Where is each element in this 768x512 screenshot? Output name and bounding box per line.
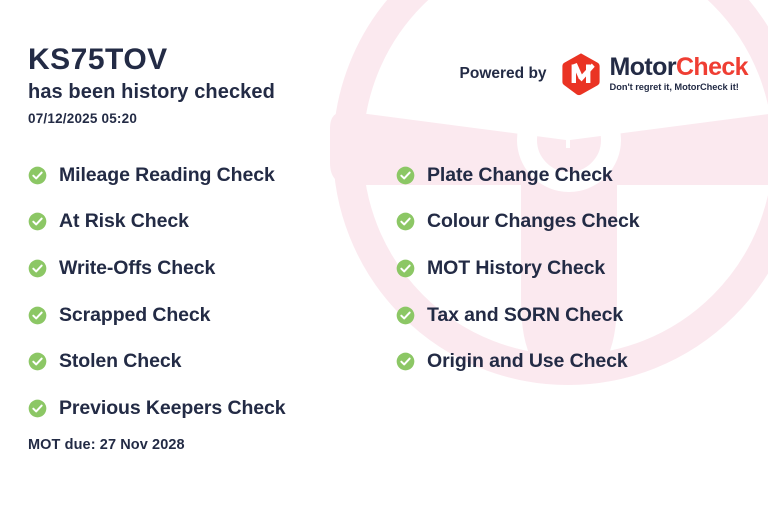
check-timestamp: 07/12/2025 05:20 [28, 111, 448, 126]
check-label: Colour Changes Check [427, 210, 640, 233]
brand-tagline: Don't regret it, MotorCheck it! [610, 83, 748, 92]
green-check-circle-icon [396, 306, 415, 325]
vehicle-history-banner: KS75TOV has been history checked 07/12/2… [0, 0, 768, 512]
header-subtitle: has been history checked [28, 80, 448, 104]
check-item: MOT History Check [396, 245, 740, 292]
check-item: Tax and SORN Check [396, 292, 740, 339]
green-check-circle-icon [28, 259, 47, 278]
check-label: Stolen Check [59, 350, 181, 373]
header-block: KS75TOV has been history checked 07/12/2… [28, 44, 448, 126]
brand-name: MotorCheck [610, 55, 748, 80]
green-check-circle-icon [28, 166, 47, 185]
check-item: Origin and Use Check [396, 338, 740, 385]
check-item: Previous Keepers Check [28, 385, 396, 432]
checks-left-column: Mileage Reading Check At Risk Check Writ… [28, 152, 396, 432]
check-label: Plate Change Check [427, 164, 613, 187]
check-item: Colour Changes Check [396, 199, 740, 246]
check-label: Origin and Use Check [427, 350, 628, 373]
check-item: At Risk Check [28, 199, 396, 246]
motorcheck-logo[interactable]: MotorCheck Don't regret it, MotorCheck i… [561, 52, 748, 96]
mot-due-label: MOT due: 27 Nov 2028 [28, 437, 185, 453]
green-check-circle-icon [28, 212, 47, 231]
checks-columns: Mileage Reading Check At Risk Check Writ… [28, 152, 740, 432]
check-label: Tax and SORN Check [427, 304, 623, 327]
vehicle-registration: KS75TOV [28, 44, 448, 76]
check-item: Scrapped Check [28, 292, 396, 339]
green-check-circle-icon [28, 306, 47, 325]
green-check-circle-icon [396, 352, 415, 371]
check-item: Mileage Reading Check [28, 152, 396, 199]
check-label: Write-Offs Check [59, 257, 215, 280]
powered-by-label: Powered by [460, 65, 547, 83]
motorcheck-hexagon-icon [561, 52, 601, 96]
green-check-circle-icon [396, 259, 415, 278]
checks-right-column: Plate Change Check Colour Changes Check … [396, 152, 740, 432]
motorcheck-wordmark: MotorCheck Don't regret it, MotorCheck i… [610, 55, 748, 92]
check-label: MOT History Check [427, 257, 605, 280]
check-label: At Risk Check [59, 210, 189, 233]
green-check-circle-icon [396, 212, 415, 231]
brand-name-motor: Motor [610, 53, 676, 81]
green-check-circle-icon [28, 352, 47, 371]
green-check-circle-icon [396, 166, 415, 185]
brand-name-check: Check [676, 53, 748, 81]
check-label: Scrapped Check [59, 304, 210, 327]
check-label: Mileage Reading Check [59, 164, 275, 187]
check-label: Previous Keepers Check [59, 397, 286, 420]
check-item: Plate Change Check [396, 152, 740, 199]
check-item: Stolen Check [28, 338, 396, 385]
check-item: Write-Offs Check [28, 245, 396, 292]
powered-by-block: Powered by MotorCheck Don't regret it, M… [460, 52, 748, 96]
green-check-circle-icon [28, 399, 47, 418]
